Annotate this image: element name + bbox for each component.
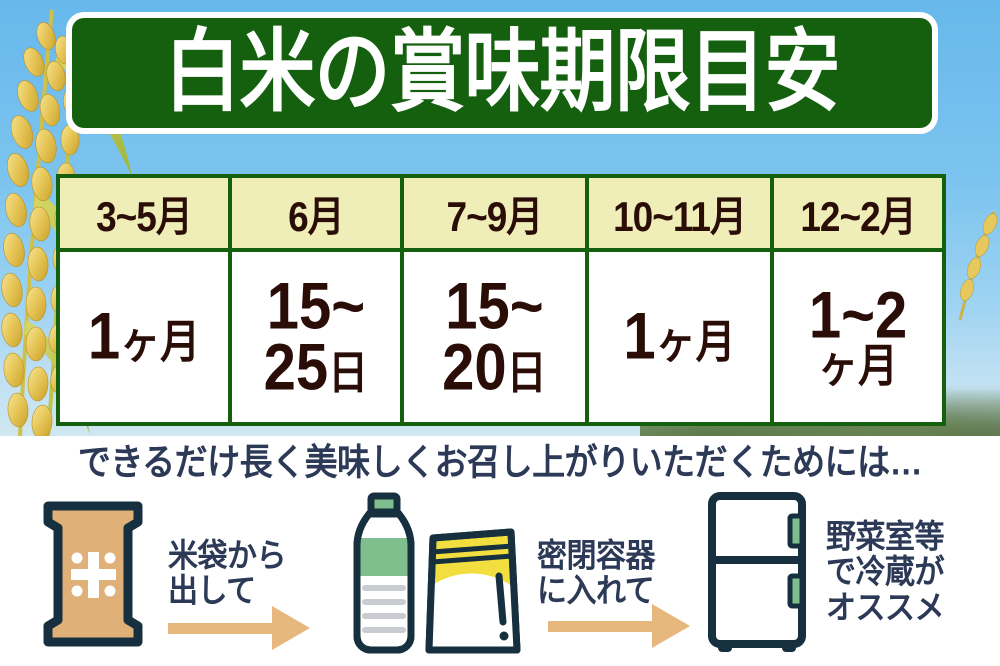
shelf-life-table: 3~5月 6月 7~9月 10~11月 12~2月 1 ヶ月 15~ 25 日 — [56, 174, 946, 426]
airtight-container-icon — [345, 490, 525, 658]
value-number: 20 — [442, 334, 507, 401]
arrow-icon-1 — [168, 608, 310, 648]
storage-steps: 米袋から 出して — [0, 486, 1000, 666]
value-unit: 日 — [507, 351, 547, 397]
rice-bag-icon — [32, 494, 154, 654]
table-header-cell-3: 10~11月 — [589, 178, 770, 248]
step-3-line-3: オススメ — [826, 589, 944, 627]
step-2-line-1: 密閉容器 — [537, 537, 655, 575]
step-1-line-2: 出して — [168, 573, 256, 611]
value-unit: ヶ月 — [656, 321, 736, 367]
table-header-cell-1: 6月 — [232, 178, 400, 248]
subtitle: できるだけ長く美味しくお召し上がりいただくためには… — [0, 435, 1000, 483]
table-value-cell-0: 1 ヶ月 — [60, 252, 228, 422]
value-number: 1~2 — [809, 282, 907, 349]
header-label: 12~2月 — [800, 183, 915, 243]
table-value-cell-4: 1~2 ヶ月 — [774, 252, 942, 422]
value-number: 1 — [623, 304, 655, 371]
step-2-text: 密閉容器 に入れて — [537, 539, 655, 610]
header-label: 7~9月 — [447, 183, 543, 243]
step-1-line-1: 米袋から — [168, 537, 286, 575]
value-unit: ヶ月 — [818, 345, 898, 391]
table-value-cell-1: 15~ 25 日 — [232, 252, 400, 422]
step-3-line-2: で冷蔵が — [826, 554, 944, 592]
table-header-cell-4: 12~2月 — [774, 178, 942, 248]
value-number: 1 — [88, 304, 120, 371]
table-header-cell-0: 3~5月 — [60, 178, 228, 248]
header-label: 3~5月 — [96, 183, 192, 243]
value-number: 25 — [264, 334, 329, 401]
step-3-line-1: 野菜室等 — [826, 518, 944, 556]
table-value-cell-3: 1 ヶ月 — [589, 252, 770, 422]
header-label: 6月 — [288, 183, 344, 243]
title-banner: 白米の賞味期限目安 — [66, 12, 938, 134]
value-unit: 日 — [328, 351, 368, 397]
arrow-icon-2 — [548, 606, 690, 646]
table-header-cell-2: 7~9月 — [404, 178, 585, 248]
header-label: 10~11月 — [613, 183, 746, 243]
infographic-root: 白米の賞味期限目安 3~5月 6月 7~9月 10~11月 12~2月 1 ヶ月… — [0, 0, 1000, 666]
step-3-text: 野菜室等 で冷蔵が オススメ — [826, 520, 944, 626]
subtitle-label: できるだけ長く美味しくお召し上がりいただくためには… — [78, 433, 922, 486]
step-3: 野菜室等 で冷蔵が オススメ — [702, 490, 944, 656]
page-title: 白米の賞味期限目安 — [165, 28, 840, 118]
table-value-cell-2: 15~ 20 日 — [404, 252, 585, 422]
value-unit: ヶ月 — [120, 321, 200, 367]
refrigerator-icon — [702, 490, 812, 656]
step-1-text: 米袋から 出して — [168, 539, 286, 610]
